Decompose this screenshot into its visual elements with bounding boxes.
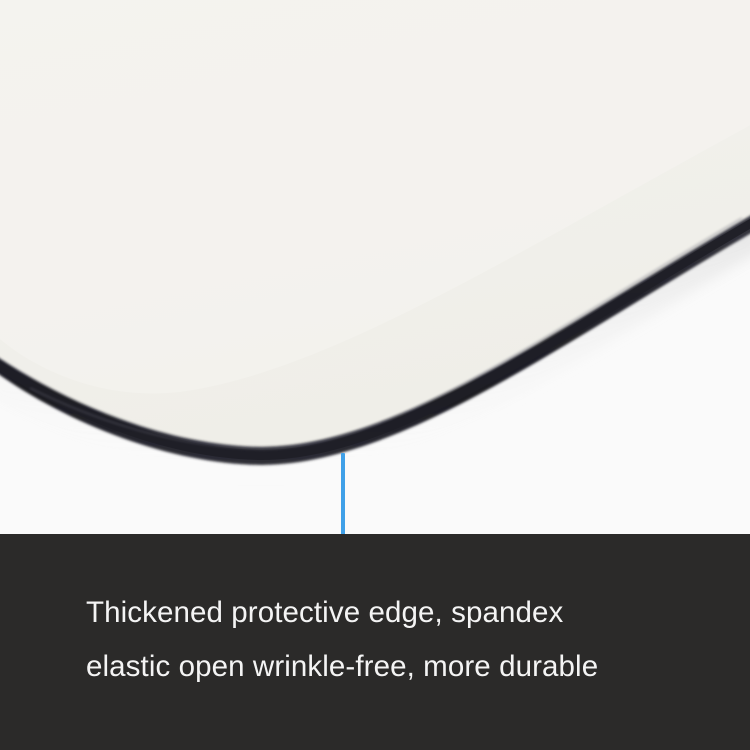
product-photo [0, 0, 750, 534]
caption-bar: Thickened protective edge, spandex elast… [0, 534, 750, 750]
product-photo-illustration [0, 0, 750, 534]
callout-leader-line [341, 453, 345, 534]
product-image-banner: Thickened protective edge, spandex elast… [0, 0, 750, 750]
caption-text: Thickened protective edge, spandex elast… [86, 586, 706, 694]
